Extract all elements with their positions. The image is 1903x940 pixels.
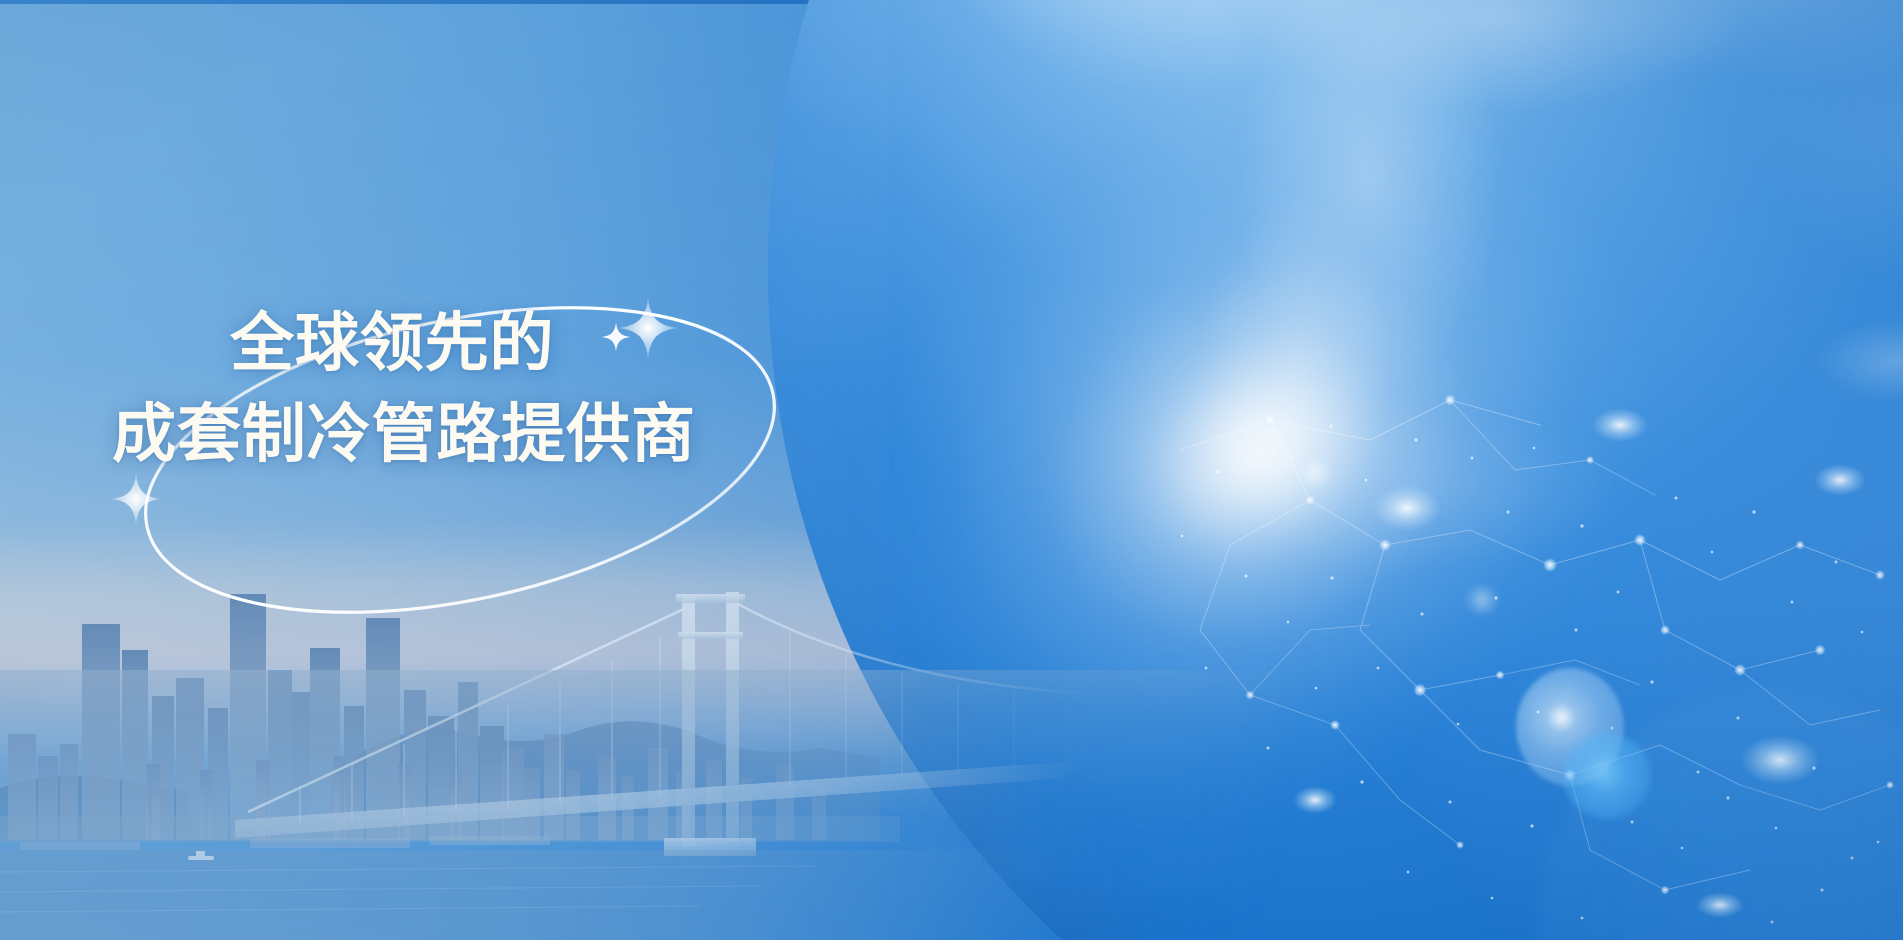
hero-banner: 全球领先的 成套制冷管路提供商 (0, 0, 1903, 940)
sparkle-4point-icon (110, 473, 162, 525)
headline-line-2: 成套制冷管路提供商 (112, 393, 696, 476)
sparkle-4point-icon (601, 322, 631, 352)
sea-water-surface (0, 670, 1400, 940)
